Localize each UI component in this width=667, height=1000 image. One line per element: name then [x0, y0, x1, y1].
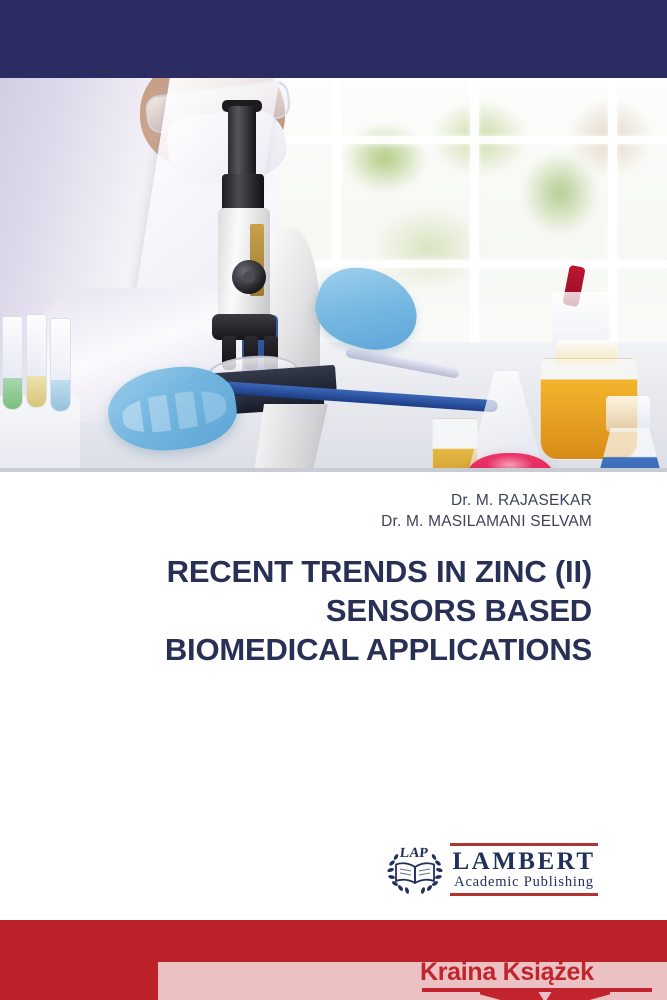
bench-edge [0, 468, 667, 472]
publisher-tagline: Academic Publishing [450, 874, 598, 891]
top-banner [0, 0, 667, 78]
book-cover: Dr. M. RAJASEKAR Dr. M. MASILAMANI SELVA… [0, 0, 667, 1000]
author-line-1: Dr. M. RAJASEKAR [60, 490, 592, 511]
watermark-text: Kraina Książek [420, 958, 667, 987]
publisher-wordmark: LAMBERT Academic Publishing [450, 841, 598, 897]
test-tube-icon [50, 318, 71, 412]
microscope-eyepiece [228, 106, 256, 178]
cover-photo [0, 78, 667, 472]
title-line-1: RECENT TRENDS IN ZINC (II) [60, 552, 592, 591]
lap-emblem-icon: LAP [384, 843, 446, 895]
author-line-2: Dr. M. MASILAMANI SELVAM [60, 511, 592, 532]
microscope-focus-knob [232, 260, 266, 294]
window-mullion-icon [470, 78, 479, 378]
svg-text:LAP: LAP [399, 845, 429, 861]
test-tube-icon [2, 316, 23, 410]
publisher-logo: LAP LAMBERT Academic Publishing [384, 841, 598, 897]
authors-block: Dr. M. RAJASEKAR Dr. M. MASILAMANI SELVA… [60, 490, 592, 532]
logo-rule-top [450, 843, 598, 846]
title-line-3: BIOMEDICAL APPLICATIONS [60, 630, 592, 669]
kraina-ksiazek-watermark: Kraina Książek [420, 958, 667, 1000]
test-tube-icon [26, 314, 47, 408]
title-line-2: SENSORS BASED [60, 591, 592, 630]
blue-flask-neck [606, 396, 650, 432]
microscope-neck [222, 174, 264, 212]
book-title: RECENT TRENDS IN ZINC (II) SENSORS BASED… [60, 552, 592, 669]
logo-rule-bottom [450, 893, 598, 896]
publisher-name: LAMBERT [450, 848, 598, 875]
window-mullion-icon [272, 260, 667, 268]
window-mullion-icon [272, 136, 667, 144]
